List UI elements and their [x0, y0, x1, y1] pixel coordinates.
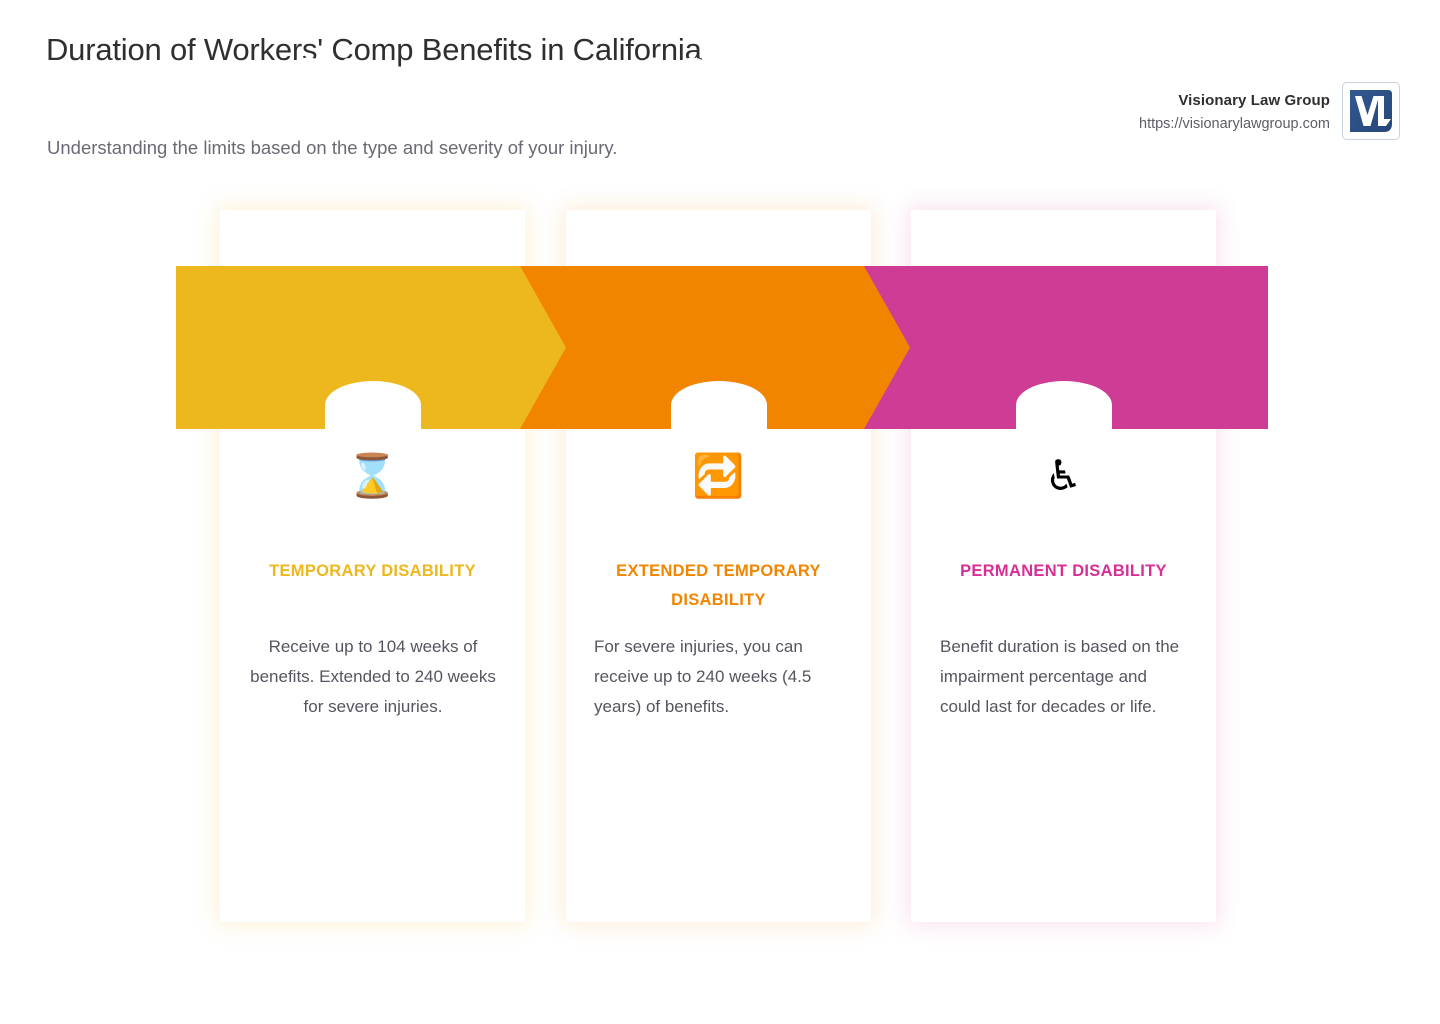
- step-body-2: For severe injuries, you can receive up …: [594, 632, 844, 722]
- step-body-1: Receive up to 104 weeks of benefits. Ext…: [248, 632, 498, 722]
- infographic-canvas: Duration of Workers' Comp Benefits in Ca…: [0, 0, 1440, 1024]
- brand-block: Visionary Law Group https://visionarylaw…: [1139, 82, 1400, 140]
- hourglass-icon-glyph: ⌛: [346, 455, 398, 497]
- step-number-3: 03: [867, 0, 1172, 163]
- banner-notch-1: [325, 381, 421, 429]
- vl-monogram-icon: [1348, 88, 1394, 134]
- accessibility-icon-glyph: ♿: [1045, 455, 1083, 497]
- banner-notch-3: [1016, 381, 1112, 429]
- step-body-3: Benefit duration is based on the impairm…: [940, 632, 1190, 722]
- brand-name: Visionary Law Group: [1139, 91, 1330, 111]
- step-heading-3: PERMANENT DISABILITY: [931, 557, 1196, 586]
- brand-text: Visionary Law Group https://visionarylaw…: [1139, 82, 1330, 135]
- brand-url[interactable]: https://visionarylawgroup.com: [1139, 113, 1330, 135]
- banner-notch-2: [671, 381, 767, 429]
- step-heading-1: TEMPORARY DISABILITY: [240, 557, 505, 586]
- repeat-icon-glyph: 🔁: [692, 455, 744, 497]
- hourglass-icon: ⌛: [220, 446, 525, 506]
- page-subtitle: Understanding the limits based on the ty…: [47, 132, 647, 163]
- accessibility-icon: ♿: [911, 446, 1216, 506]
- page-title: Duration of Workers' Comp Benefits in Ca…: [46, 24, 726, 76]
- step-heading-2: EXTENDED TEMPORARY DISABILITY: [586, 557, 851, 615]
- brand-logo: [1342, 82, 1400, 140]
- repeat-icon: 🔁: [566, 446, 871, 506]
